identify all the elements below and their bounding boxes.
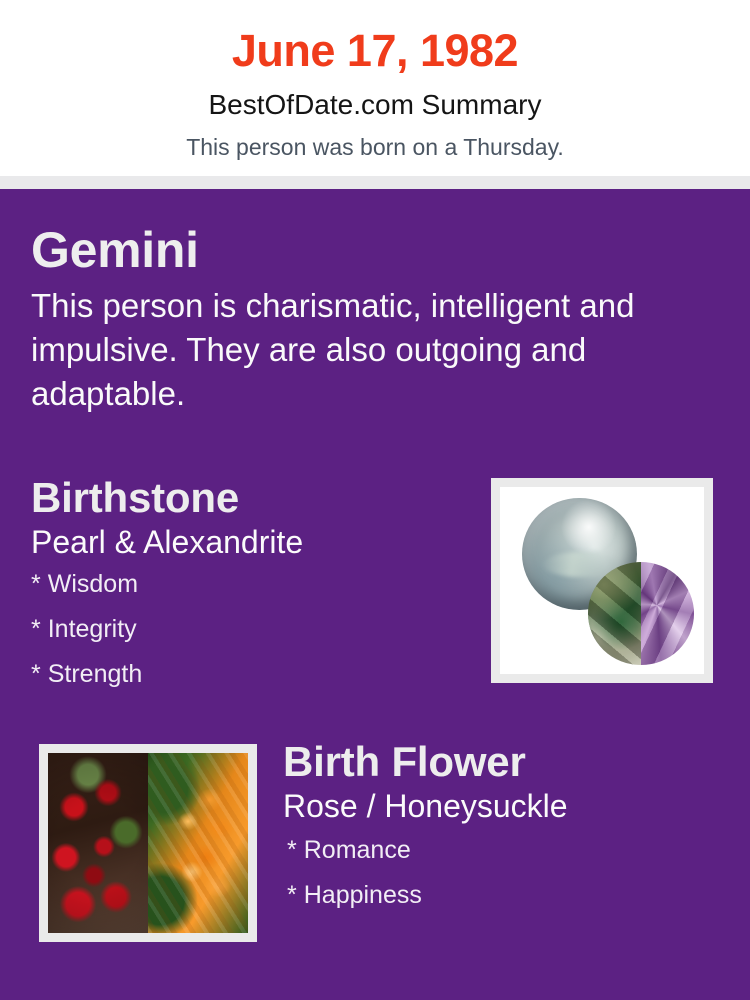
zodiac-sign-name: Gemini (31, 225, 701, 276)
birthstone-section: Birthstone Pearl & Alexandrite *Wisdom *… (31, 477, 471, 707)
trait-label: Happiness (304, 881, 422, 909)
zodiac-description: This person is charismatic, intelligent … (31, 276, 696, 416)
bullet-star-icon: * (287, 881, 304, 909)
header: June 17, 1982 BestOfDate.com Summary Thi… (0, 0, 750, 176)
bullet-star-icon: * (31, 660, 48, 688)
birthstone-image (491, 478, 713, 683)
bullet-star-icon: * (287, 836, 304, 864)
bullet-star-icon: * (31, 570, 48, 598)
honeysuckle-photo-half (148, 753, 248, 933)
bullet-star-icon: * (31, 615, 48, 643)
trait-label: Romance (304, 836, 411, 864)
list-item: *Wisdom (31, 572, 471, 617)
trait-label: Strength (48, 660, 143, 688)
alexandrite-rough-half (588, 562, 641, 665)
birthstone-names: Pearl & Alexandrite (31, 520, 471, 560)
birth-flower-section: Birth Flower Rose / Honeysuckle *Romance… (283, 741, 733, 928)
birthstone-heading: Birthstone (31, 477, 471, 520)
trait-label: Integrity (48, 615, 137, 643)
birth-flower-trait-list: *Romance *Happiness (283, 824, 733, 928)
site-name-label: BestOfDate.com Summary (0, 73, 750, 119)
birth-flower-names: Rose / Honeysuckle (283, 784, 733, 824)
birthstone-trait-list: *Wisdom *Integrity *Strength (31, 560, 471, 707)
birth-flower-image-inner (48, 753, 248, 933)
trait-label: Wisdom (48, 570, 138, 598)
birth-flower-heading: Birth Flower (283, 741, 733, 784)
header-divider (0, 176, 750, 189)
rose-photo-half (48, 753, 148, 933)
alexandrite-gem-icon (588, 562, 694, 665)
list-item: *Romance (287, 838, 733, 883)
birth-flower-image (39, 744, 257, 942)
birthstone-image-inner (500, 487, 704, 674)
list-item: *Happiness (287, 883, 733, 928)
weekday-note: This person was born on a Thursday. (0, 119, 750, 159)
zodiac-section: Gemini This person is charismatic, intel… (31, 225, 701, 416)
alexandrite-faceted-half (641, 562, 694, 665)
birthday-summary-card: June 17, 1982 BestOfDate.com Summary Thi… (0, 0, 750, 1000)
list-item: *Integrity (31, 617, 471, 662)
page-title-date: June 17, 1982 (0, 0, 750, 73)
list-item: *Strength (31, 662, 471, 707)
